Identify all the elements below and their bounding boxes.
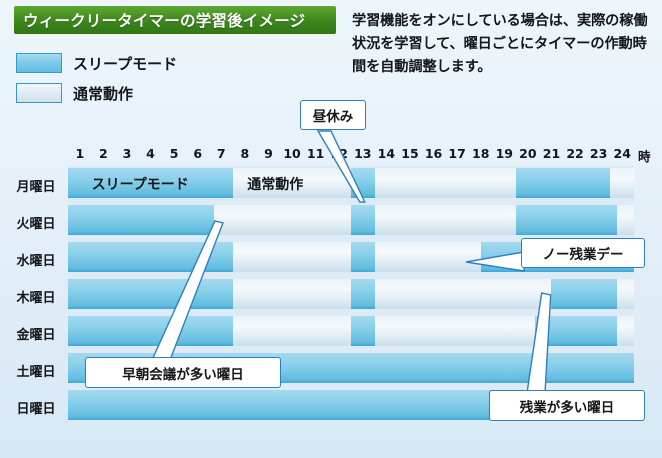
- callout-overtime-days: 残業が多い曜日: [489, 390, 645, 421]
- weekly-timer-infographic: ウィークリータイマーの学習後イメージ スリープモード 通常動作 学習機能をオンに…: [0, 0, 662, 458]
- callout-early-meeting-days: 早朝会議が多い曜日: [85, 357, 281, 388]
- callout-lunch-break: 昼休み: [300, 100, 366, 130]
- callout-no-overtime-day: ノー残業デー: [521, 238, 645, 268]
